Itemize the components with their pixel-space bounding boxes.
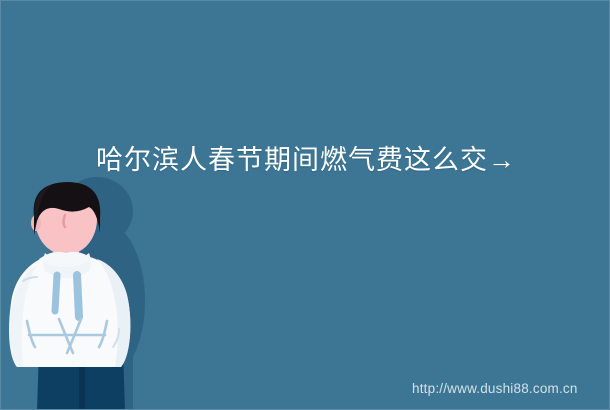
headline-text: 哈尔滨人春节期间燃气费这么交→	[1, 143, 610, 177]
banner-image: 哈尔滨人春节期间燃气费这么交→ http://www.dushi88.com.c…	[0, 0, 610, 410]
person-illustration	[1, 171, 181, 410]
source-url-watermark: http://www.dushi88.com.cn	[412, 380, 578, 398]
